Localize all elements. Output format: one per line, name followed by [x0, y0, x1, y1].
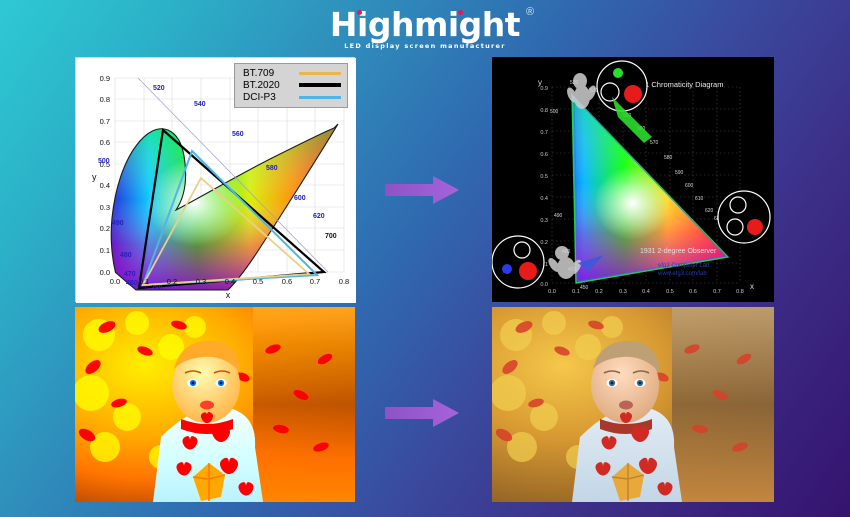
x-tick-label: 0.3: [196, 277, 206, 286]
x-tick-label: 0.2: [167, 277, 177, 286]
brand-logo: Highmight ® LED display screen manufactu…: [330, 8, 520, 50]
x-tick-label: 0.8: [339, 277, 349, 286]
wavelength-label: 580: [266, 165, 278, 172]
legend-item: DCI-P3: [243, 91, 341, 103]
wavelength-label: 450: [580, 285, 589, 291]
page-header: Highmight ® LED display screen manufactu…: [0, 8, 850, 53]
legend-swatch-bt709: [299, 72, 341, 75]
y-tick-label: 0.4: [540, 196, 548, 202]
photo-after-image: [492, 307, 774, 502]
y-tick-label: 0.0: [540, 282, 548, 288]
y-tick-label: 0.2: [540, 240, 548, 246]
photo-after: [492, 307, 774, 502]
cie-chart-standard: 0.9 0.8 0.7 0.6 0.5 0.4 0.3 0.2 0.1 0.0 …: [75, 57, 355, 302]
x-tick-label: 0.1: [139, 277, 149, 286]
y-tick-label: 0.3: [540, 218, 548, 224]
rgb-badge-top: [597, 61, 647, 111]
x-tick-label: 0.3: [619, 289, 627, 295]
wavelength-label: 560: [232, 131, 244, 138]
x-tick-label: 0.0: [110, 277, 120, 286]
y-tick-label: 0.2: [100, 224, 110, 233]
y-tick-label: 0.7: [100, 117, 110, 126]
transform-arrow-bottom: [383, 398, 461, 428]
chart-legend: BT.709 BT.2020 DCI-P3: [234, 63, 348, 108]
wavelength-label: 600: [294, 195, 306, 202]
y-tick-label: 0.3: [100, 203, 110, 212]
watermark-line-1: efg3 Computer Lab: [658, 263, 710, 269]
y-axis-title: y: [92, 172, 97, 182]
y-tick-label: 0.1: [100, 246, 110, 255]
cie-chart-enhanced-svg: CIE 1931 Chromaticity Diagram 1931 2-deg…: [492, 57, 774, 302]
y-tick-label: 0.8: [100, 95, 110, 104]
x-tick-label: 0.4: [642, 289, 650, 295]
cie-chart-enhanced: CIE 1931 Chromaticity Diagram 1931 2-deg…: [492, 57, 774, 302]
legend-swatch-bt2020: [299, 83, 341, 87]
watermark-line-2: www.efg3.com/lab: [657, 271, 707, 277]
wavelength-label: 620: [313, 213, 325, 220]
arrow-right-icon: [385, 399, 459, 427]
transform-arrow-top: [383, 175, 461, 205]
wavelength-label: 590: [675, 170, 684, 176]
wavelength-label: 620: [705, 208, 714, 214]
rgb-badge-left: [492, 236, 544, 288]
x-tick-label: 0.0: [548, 289, 556, 295]
x-tick-label: 0.6: [689, 289, 697, 295]
wavelength-label: 570: [650, 140, 659, 146]
y-tick-label: 0.6: [540, 152, 548, 158]
wavelength-label: 480: [120, 252, 132, 259]
wavelength-label: 500: [98, 158, 110, 165]
registered-trademark-icon: ®: [526, 6, 534, 18]
wavelength-label: 540: [194, 101, 206, 108]
photo-before: [75, 307, 355, 502]
x-tick-label: 0.5: [666, 289, 674, 295]
x-tick-label: 0.2: [595, 289, 603, 295]
logo-dot-icon: [458, 10, 463, 15]
x-tick-label: 0.7: [713, 289, 721, 295]
y-tick-label: 0.9: [100, 74, 110, 83]
wavelength-label: 460: [126, 280, 138, 287]
y-tick-label: 0.4: [100, 181, 110, 190]
wavelength-label: 470: [124, 271, 136, 278]
wavelength-label: 500: [550, 109, 559, 115]
wavelength-label: 610: [695, 196, 704, 202]
wavelength-label: 600: [685, 183, 694, 189]
wavelength-label: 490: [112, 220, 124, 227]
logo-dot-icon: [357, 10, 362, 15]
x-axis-title: x: [226, 290, 231, 300]
x-tick-label: 0.6: [282, 277, 292, 286]
y-tick-label: 0.8: [540, 108, 548, 114]
wavelength-label: 490: [554, 213, 563, 219]
legend-item: BT.2020: [243, 79, 341, 91]
wavelength-label: 700: [325, 233, 337, 240]
x-axis-title: x: [750, 282, 754, 291]
legend-label: BT.709: [243, 68, 293, 79]
x-tick-label: 0.4: [225, 277, 235, 286]
y-tick-label: 0.5: [540, 174, 548, 180]
legend-item: BT.709: [243, 67, 341, 79]
wavelength-label: 380: [151, 285, 163, 292]
observer-note: 1931 2-degree Observer: [640, 248, 717, 255]
x-tick-label: 0.7: [310, 277, 320, 286]
legend-label: DCI-P3: [243, 92, 293, 103]
x-tick-label: 0.1: [572, 289, 580, 295]
wavelength-label: 520: [153, 85, 165, 92]
x-tick-label: 0.5: [253, 277, 263, 286]
arrow-right-icon: [385, 176, 459, 204]
y-axis-title: y: [538, 78, 542, 87]
y-tick-label: 0.6: [100, 138, 110, 147]
photo-before-image: [75, 307, 355, 502]
legend-label: BT.2020: [243, 80, 293, 91]
y-tick-label: 0.0: [100, 268, 110, 277]
legend-swatch-dcip3: [299, 96, 341, 99]
y-tick-label: 0.7: [540, 130, 548, 136]
x-tick-label: 0.8: [736, 289, 744, 295]
rgb-badge-right: [718, 191, 770, 243]
wavelength-label: 580: [664, 155, 673, 161]
